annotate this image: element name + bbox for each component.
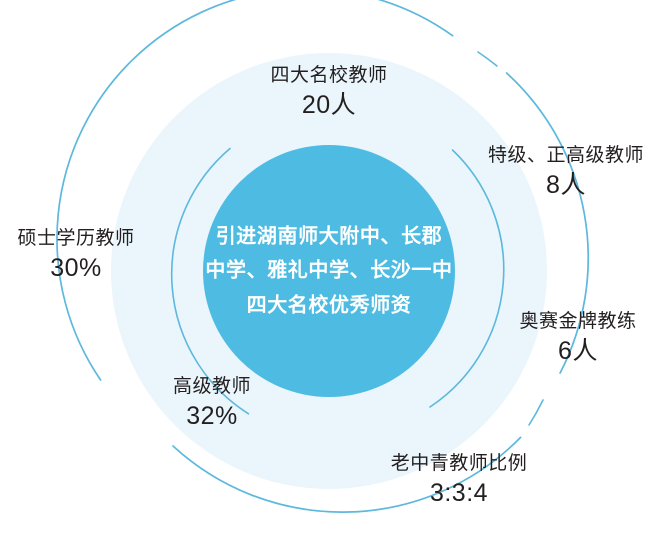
label-title: 特级、正高级教师 [488,144,644,168]
label-value: 32% [173,401,251,433]
label-value: 30% [17,253,134,285]
diagram-canvas: 引进湖南师大附中、长郡 中学、雅礼中学、长沙一中 四大名校优秀师资 四大名校教师… [0,0,650,546]
label-right-olympiad-coaches: 奥赛金牌教练 6人 [519,310,636,367]
label-title: 高级教师 [173,375,251,399]
label-value: 3:3:4 [391,478,528,510]
label-value: 8人 [488,170,644,202]
label-title: 硕士学历教师 [17,227,134,251]
label-value: 6人 [519,336,636,368]
label-bottom-left-advanced-teachers: 高级教师 32% [173,375,251,432]
arc-tick-topright [478,52,497,66]
arc-tick-bottomright [529,400,543,425]
label-top-right-senior-teachers: 特级、正高级教师 8人 [488,144,644,201]
label-top-four-schools-teachers: 四大名校教师 20人 [270,64,387,121]
label-bottom-age-ratio: 老中青教师比例 3:3:4 [391,452,528,509]
label-value: 20人 [270,90,387,122]
core-circle [203,145,455,397]
label-title: 四大名校教师 [270,64,387,88]
label-title: 奥赛金牌教练 [519,310,636,334]
label-left-masters-degree-teachers: 硕士学历教师 30% [17,227,134,284]
label-title: 老中青教师比例 [391,452,528,476]
